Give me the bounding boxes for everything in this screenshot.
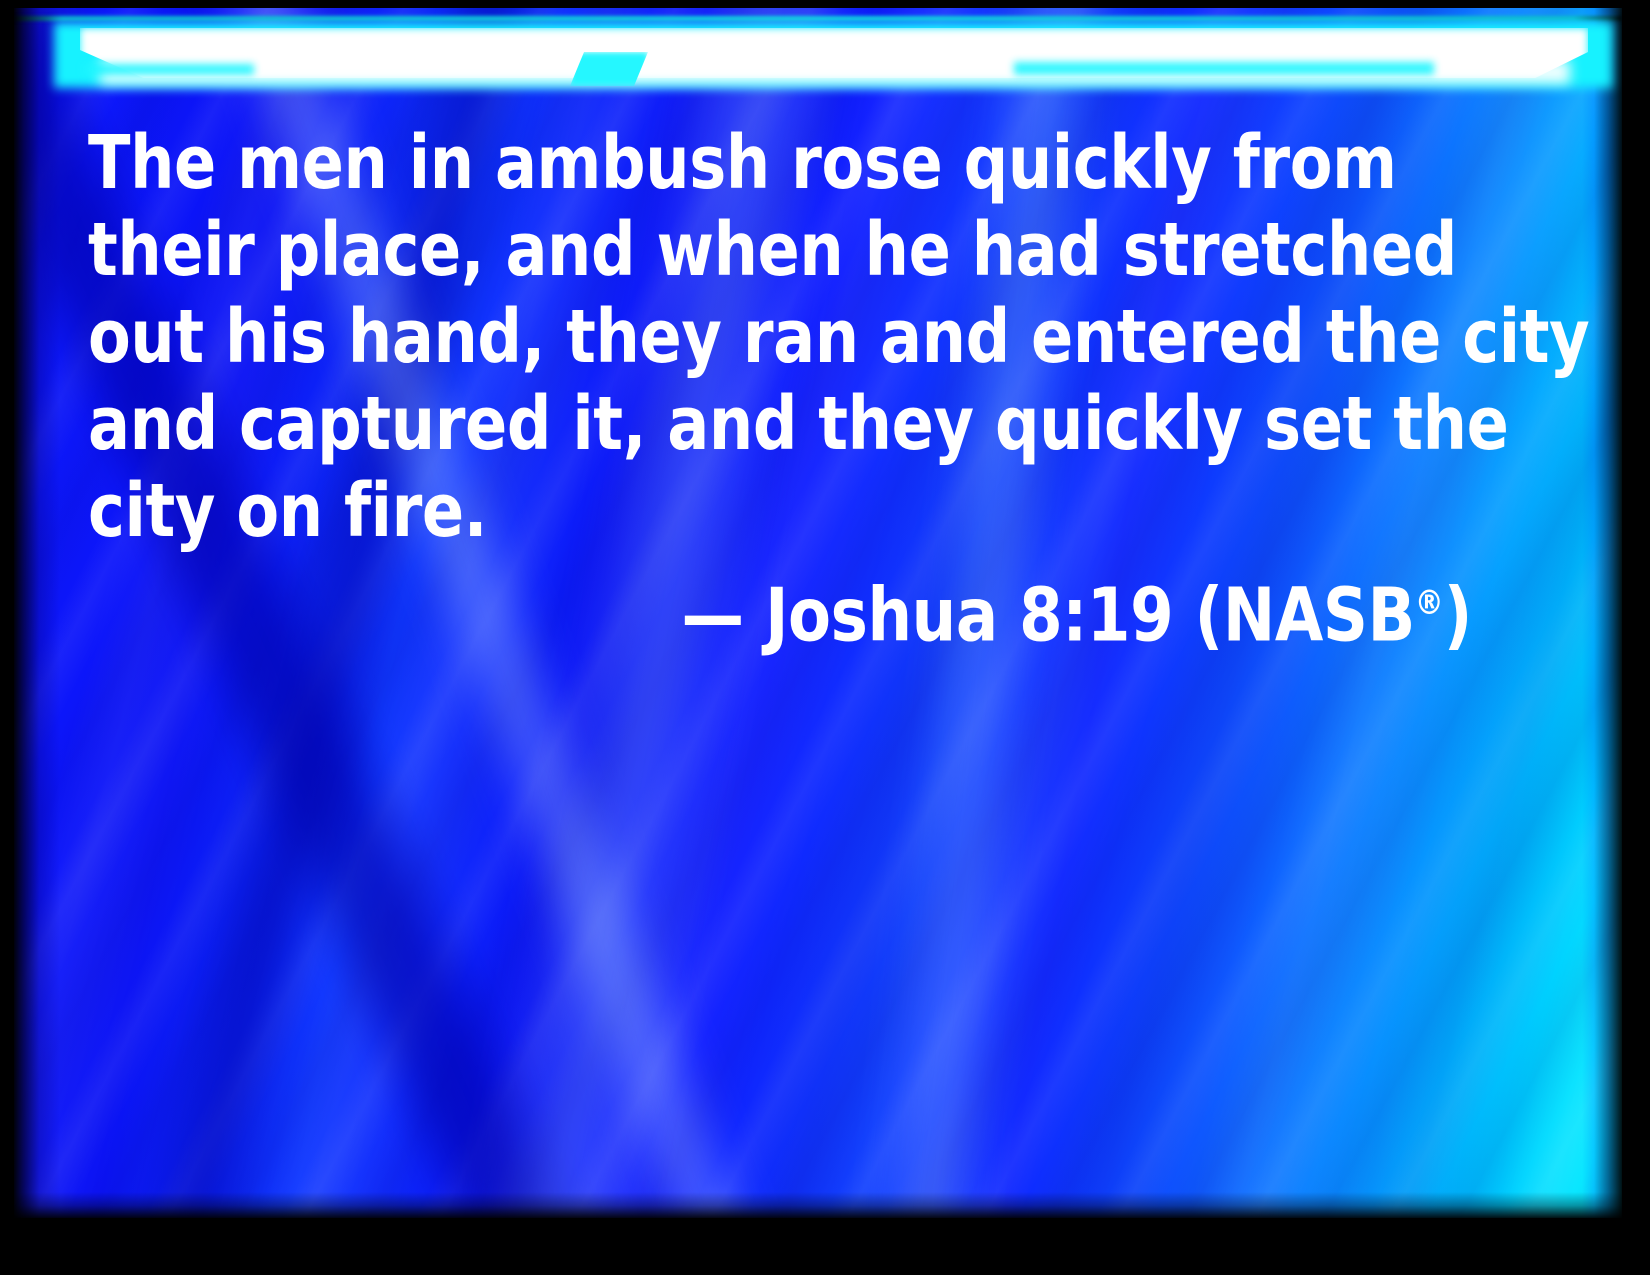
verse-canvas: The men in ambush rose quickly from thei… [14, 8, 1622, 1218]
background-cyan-sweep [14, 8, 1622, 1218]
slide-frame: The men in ambush rose quickly from thei… [0, 0, 1650, 1275]
